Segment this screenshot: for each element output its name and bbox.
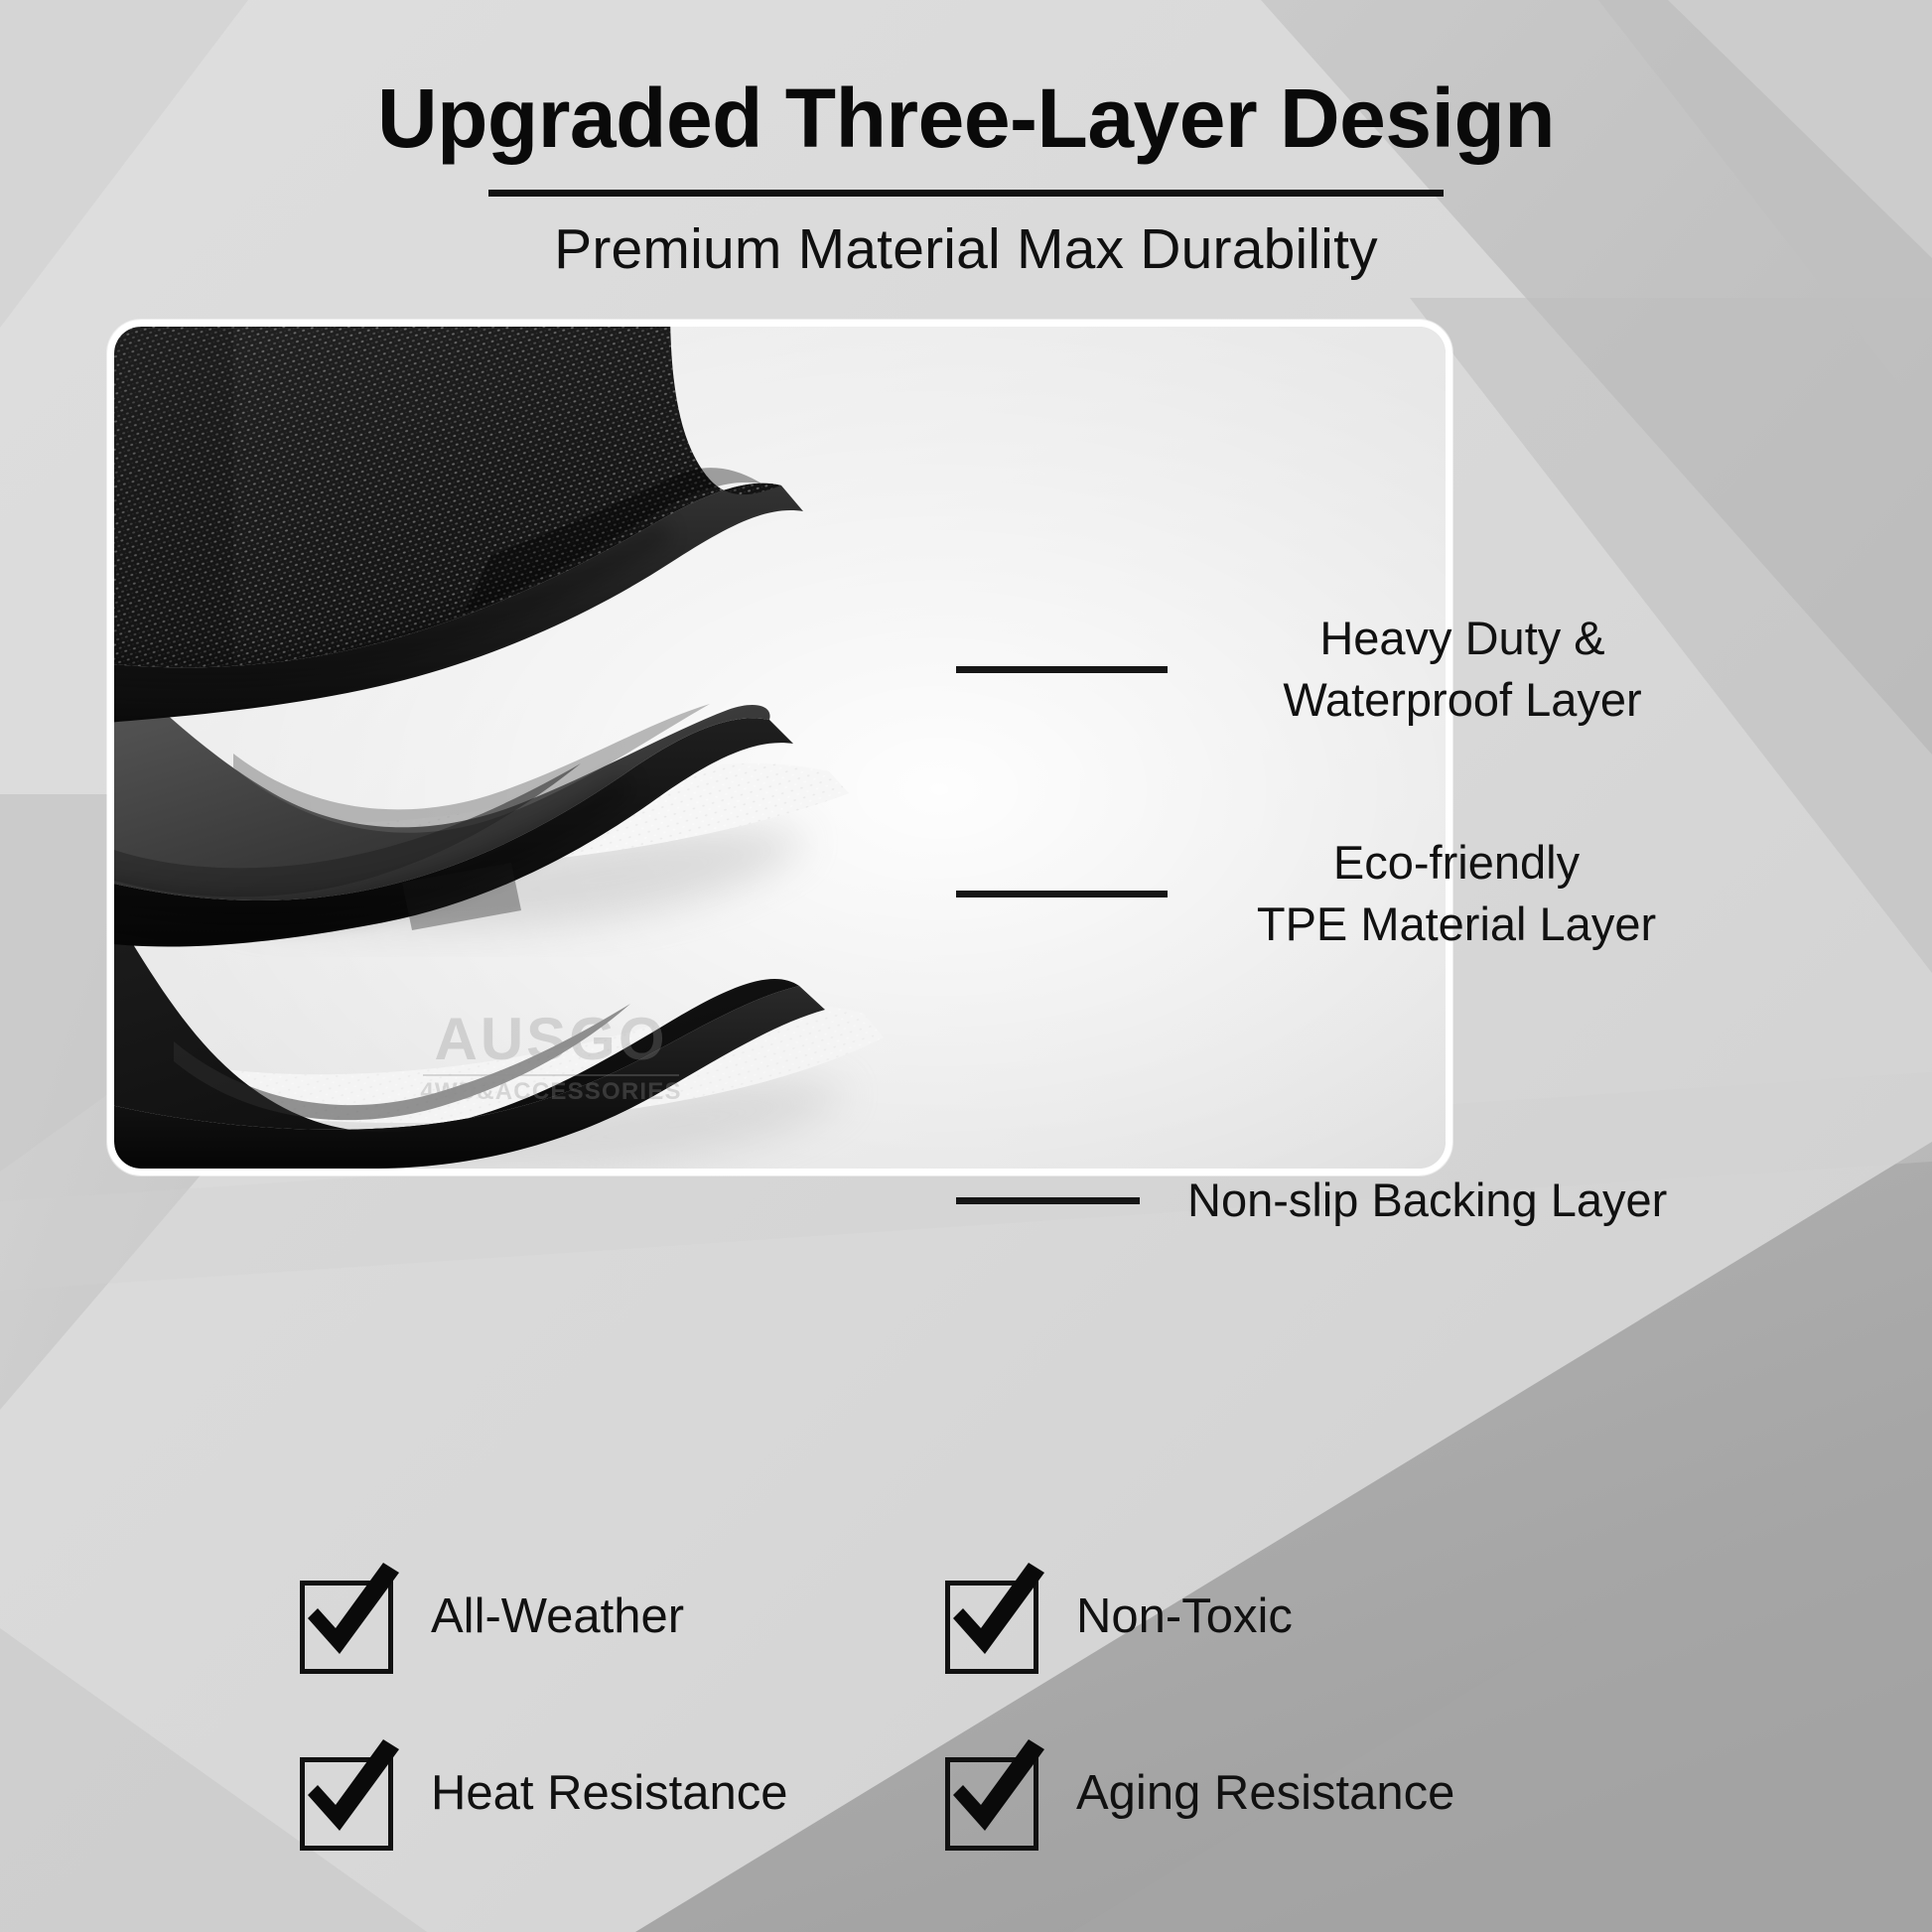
- feature-item-non-toxic: Non-Toxic: [933, 1529, 1549, 1706]
- feature-item-heat-resistance: Heat Resistance: [288, 1706, 903, 1882]
- callout-eco-friendly-tpe: Eco-friendly TPE Material Layer: [956, 832, 1700, 955]
- feature-item-all-weather: All-Weather: [288, 1529, 903, 1706]
- feature-label: Heat Resistance: [431, 1767, 788, 1821]
- callout-heavy-duty-waterproof: Heavy Duty & Waterproof Layer: [956, 608, 1696, 731]
- product-image: AUSGO 4WD&ACCESSORIES: [114, 327, 1446, 1169]
- callout-non-slip-backing: Non-slip Backing Layer: [956, 1170, 1743, 1231]
- feature-item-aging-resistance: Aging Resistance: [933, 1706, 1549, 1882]
- callout-label-3: Non-slip Backing Layer: [1187, 1170, 1743, 1231]
- feature-label: Aging Resistance: [1076, 1767, 1454, 1821]
- page-title: Upgraded Three-Layer Design: [0, 73, 1932, 164]
- checkmark-icon: [933, 1559, 1050, 1676]
- feature-checklist: All-Weather Non-Toxic Heat Resistance Ag…: [288, 1529, 1678, 1882]
- checkmark-icon: [288, 1735, 405, 1853]
- feature-label: Non-Toxic: [1076, 1590, 1293, 1644]
- leader-line-3: [956, 1197, 1140, 1204]
- leader-line-1: [956, 666, 1168, 673]
- product-image-card: AUSGO 4WD&ACCESSORIES: [107, 320, 1452, 1175]
- leader-line-2: [956, 891, 1168, 897]
- feature-label: All-Weather: [431, 1590, 684, 1644]
- checkbox-non-toxic: [933, 1559, 1050, 1676]
- three-layer-mat-illustration: [114, 327, 1446, 1169]
- checkbox-all-weather: [288, 1559, 405, 1676]
- title-divider: [488, 190, 1444, 197]
- checkbox-heat-resistance: [288, 1735, 405, 1853]
- callout-label-1: Heavy Duty & Waterproof Layer: [1229, 608, 1696, 731]
- header: Upgraded Three-Layer Design Premium Mate…: [0, 0, 1932, 280]
- callout-label-2: Eco-friendly TPE Material Layer: [1213, 832, 1700, 955]
- page-subtitle: Premium Material Max Durability: [0, 218, 1932, 281]
- checkmark-icon: [933, 1735, 1050, 1853]
- checkbox-aging-resistance: [933, 1735, 1050, 1853]
- checkmark-icon: [288, 1559, 405, 1676]
